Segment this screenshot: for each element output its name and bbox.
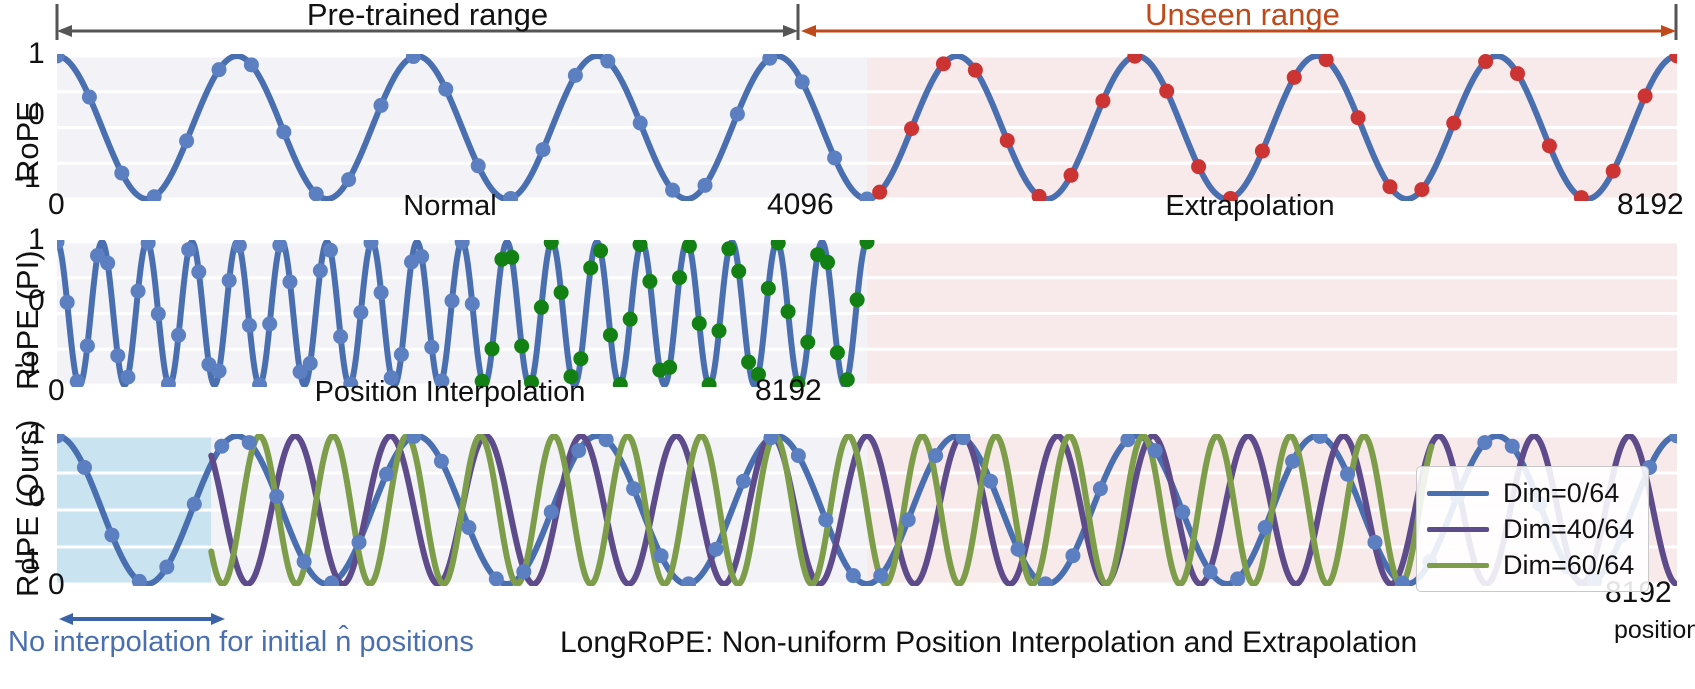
panel-rope-normal-ytick-0: 0: [28, 98, 45, 132]
panel-rope-normal-xtick-right: 8192: [1617, 188, 1684, 222]
panel-rope-normal: RoPE 1 0 -1: [0, 42, 1695, 197]
panel-rope-ours-ytick-0: 0: [28, 480, 45, 514]
panel-rope-normal-ytick-1: 1: [28, 37, 45, 71]
panel-rope-normal-plot: [57, 50, 1677, 205]
figure-caption: LongRoPE: Non-uniform Position Interpola…: [560, 626, 1417, 660]
panel-rope-normal-caption-extrapolation: Extrapolation: [1000, 190, 1500, 223]
panel-rope-pi-plot: [57, 236, 1677, 391]
legend[interactable]: Dim=0/64 Dim=40/64 Dim=60/64: [1416, 466, 1649, 592]
panel-rope-normal-caption-normal: Normal: [0, 190, 900, 223]
legend-swatch-dim40: [1427, 527, 1489, 532]
panel-rope-ours-xtick-left: 0: [48, 568, 65, 602]
panel-rope-ours-ytick-1: 1: [28, 417, 45, 451]
legend-swatch-dim60: [1427, 563, 1489, 568]
legend-label-dim0: Dim=0/64: [1503, 478, 1619, 509]
legend-swatch-dim0: [1427, 491, 1489, 496]
panel-rope-pi: RoPE (PI) 1 0 -1: [0, 228, 1695, 383]
panel-rope-pi-caption: Position Interpolation: [0, 376, 900, 409]
unseen-range-label: Unseen range: [805, 0, 1680, 33]
legend-item-dim60[interactable]: Dim=60/64: [1427, 547, 1634, 583]
figure-xaxis-label: position: [1614, 616, 1695, 645]
legend-item-dim0[interactable]: Dim=0/64: [1427, 475, 1634, 511]
no-interpolation-annotation: No interpolation for initial n̂ position…: [8, 626, 474, 659]
panel-rope-pi-ytick-0: 0: [28, 284, 45, 318]
figure-root: Pre-trained range Unseen range RoPE 1 0 …: [0, 0, 1695, 689]
panel-rope-pi-ytick-1: 1: [28, 223, 45, 257]
panel-rope-ours-ytick-neg1: -1: [14, 543, 41, 577]
legend-label-dim60: Dim=60/64: [1503, 550, 1634, 581]
legend-item-dim40[interactable]: Dim=40/64: [1427, 511, 1634, 547]
pretrained-range-label: Pre-trained range: [0, 0, 855, 33]
legend-label-dim40: Dim=40/64: [1503, 514, 1634, 545]
